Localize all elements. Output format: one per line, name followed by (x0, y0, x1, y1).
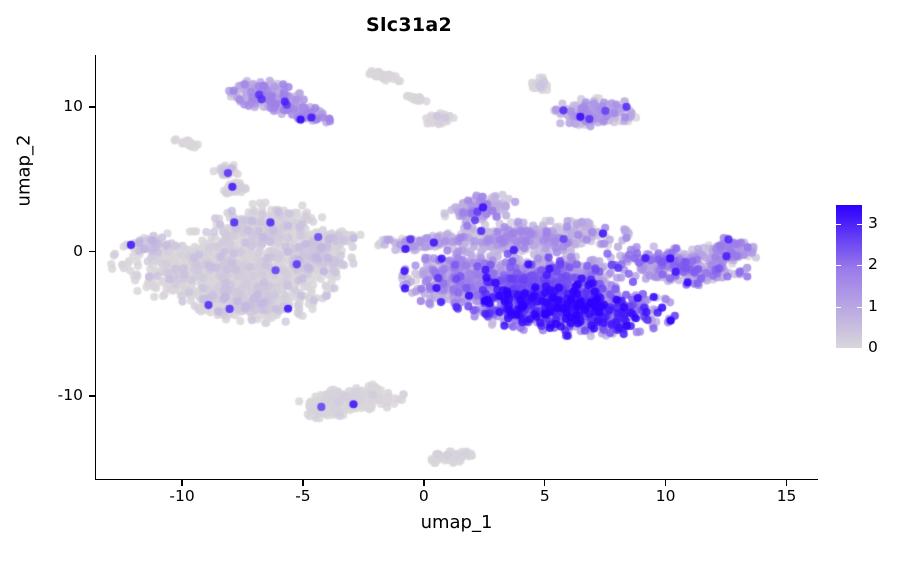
x-tick-mark (544, 480, 545, 486)
y-axis-label: umap_2 (14, 61, 35, 281)
x-tick-mark (786, 480, 787, 486)
y-tick-mark (89, 251, 95, 252)
colorbar (836, 205, 862, 348)
y-tick-mark (89, 106, 95, 107)
x-axis-label: umap_1 (95, 512, 818, 533)
x-tick-label: -5 (273, 487, 333, 505)
colorbar-tick-mark (857, 307, 862, 308)
colorbar-tick-label: 0 (868, 338, 878, 356)
x-tick-mark (665, 480, 666, 486)
y-tick-label: -10 (29, 386, 83, 404)
plot-area (95, 55, 818, 480)
figure-canvas: Slc31a2 -10-5051015 -10010 umap_1 umap_2… (0, 0, 911, 562)
colorbar-tick-mark (857, 265, 862, 266)
colorbar-tick-label: 3 (868, 214, 878, 232)
y-tick-label: 0 (29, 242, 83, 260)
scatter-points-layer (96, 55, 818, 480)
colorbar-gradient (836, 205, 862, 348)
x-tick-label: 5 (515, 487, 575, 505)
y-tick-mark (89, 395, 95, 396)
colorbar-tick-label: 1 (868, 297, 878, 315)
x-tick-label: -10 (152, 487, 212, 505)
x-tick-mark (423, 480, 424, 486)
colorbar-tick-mark (857, 224, 862, 225)
x-tick-label: 15 (757, 487, 817, 505)
chart-title: Slc31a2 (0, 14, 818, 36)
y-tick-label: 10 (29, 97, 83, 115)
colorbar-tick-label: 2 (868, 255, 878, 273)
colorbar-tick-mark (836, 224, 841, 225)
x-tick-mark (302, 480, 303, 486)
colorbar-tick-mark (836, 307, 841, 308)
x-tick-label: 0 (394, 487, 454, 505)
colorbar-tick-mark (836, 265, 841, 266)
x-tick-mark (181, 480, 182, 486)
x-tick-label: 10 (636, 487, 696, 505)
